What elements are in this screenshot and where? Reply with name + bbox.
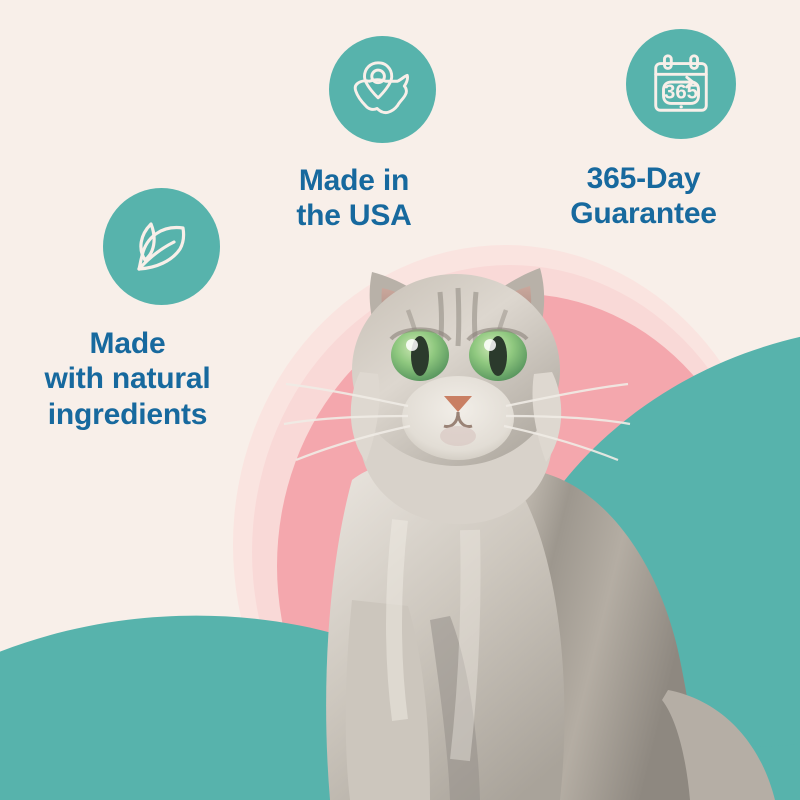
calendar-365-icon: 365 — [646, 49, 716, 119]
leaf-icon — [126, 211, 198, 283]
badge-icon-circle-natural — [103, 188, 220, 305]
badge-made-with-natural-ingredients: Made with natural ingredients — [0, 188, 255, 432]
benefits-banner: Made with natural ingredients Made in th… — [0, 0, 800, 800]
badge-label-natural: Made with natural ingredients — [0, 326, 255, 432]
badge-icon-circle-usa — [329, 36, 436, 143]
calendar-365-text: 365 — [663, 82, 697, 104]
badge-label-usa: Made in the USA — [245, 163, 463, 234]
usa-map-pin-icon — [347, 55, 417, 125]
badge-made-in-the-usa: Made in the USA — [245, 36, 463, 234]
badge-label-guarantee: 365-Day Guarantee — [521, 161, 766, 232]
badge-icon-circle-guarantee: 365 — [626, 29, 736, 139]
badge-365-day-guarantee: 365 365-Day Guarantee — [521, 29, 766, 232]
